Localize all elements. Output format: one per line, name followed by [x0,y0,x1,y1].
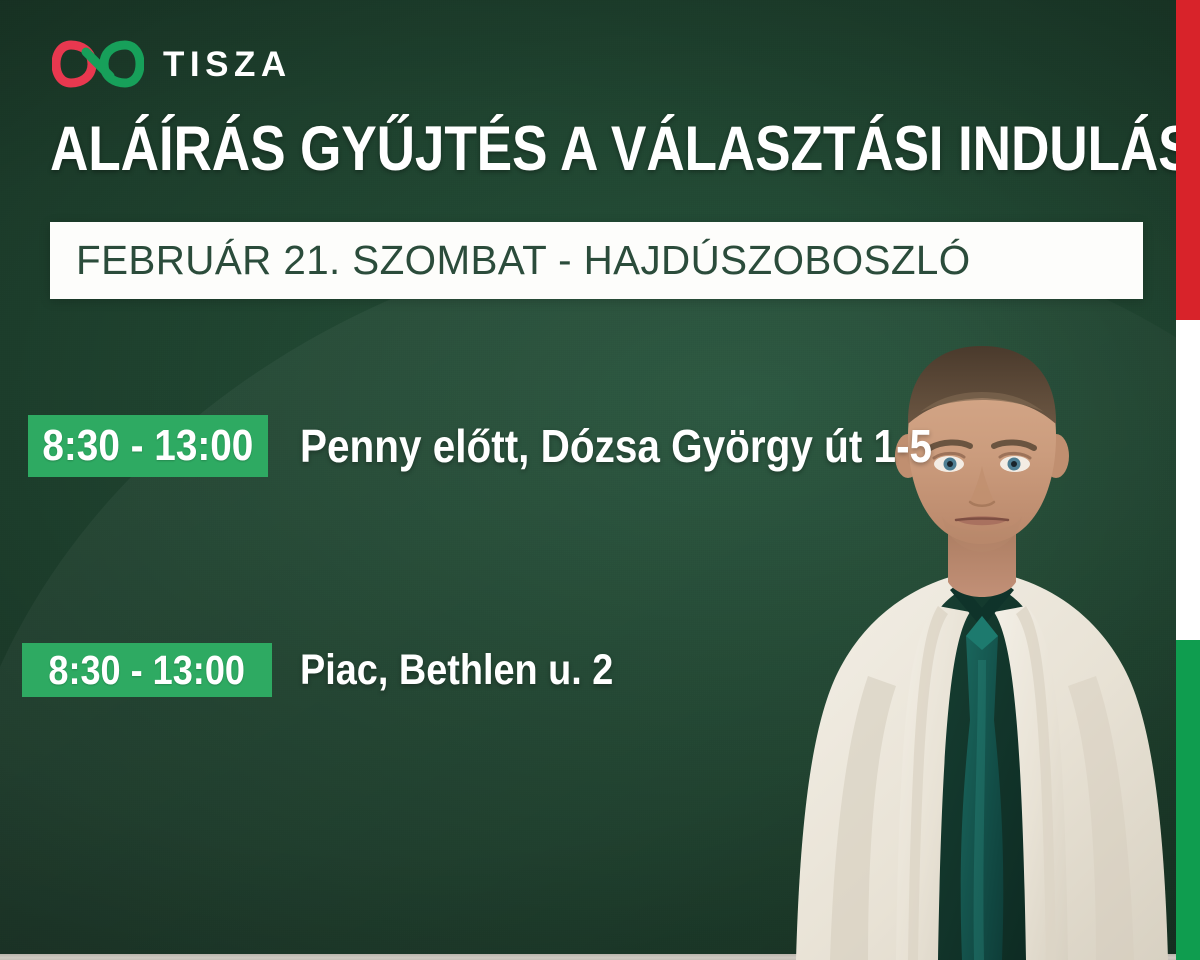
tisza-infinity-logo-icon [52,40,144,88]
flag-band-green [1176,640,1200,960]
time-badge-label: 8:30 - 13:00 [49,650,246,691]
hungarian-flag-stripe [1176,0,1200,960]
schedule-list: 8:30 - 13:00 Penny előtt, Dózsa György ú… [0,415,920,697]
brand-logo[interactable]: TISZA [52,40,292,88]
schedule-row: 8:30 - 13:00 Penny előtt, Dózsa György ú… [28,415,920,477]
time-badge-label: 8:30 - 13:00 [42,424,253,468]
poster-canvas: TISZA ALÁÍRÁS GYŰJTÉS A VÁLASZTÁSI INDUL… [0,0,1200,960]
time-badge: 8:30 - 13:00 [22,643,272,697]
location-label: Piac, Bethlen u. 2 [300,649,613,692]
time-badge: 8:30 - 13:00 [28,415,268,477]
page-title: ALÁÍRÁS GYŰJTÉS A VÁLASZTÁSI INDULÁSÉRT [50,118,980,181]
schedule-row: 8:30 - 13:00 Piac, Bethlen u. 2 [22,643,920,697]
flag-band-red [1176,0,1200,320]
bottom-edge-strip [0,954,1200,960]
date-location-bar: FEBRUÁR 21. SZOMBAT - HAJDÚSZOBOSZLÓ [50,222,1143,299]
date-location-text: FEBRUÁR 21. SZOMBAT - HAJDÚSZOBOSZLÓ [76,240,971,281]
brand-wordmark: TISZA [163,47,292,82]
location-label: Penny előtt, Dózsa György út 1-5 [300,423,932,469]
flag-band-white [1176,320,1200,640]
